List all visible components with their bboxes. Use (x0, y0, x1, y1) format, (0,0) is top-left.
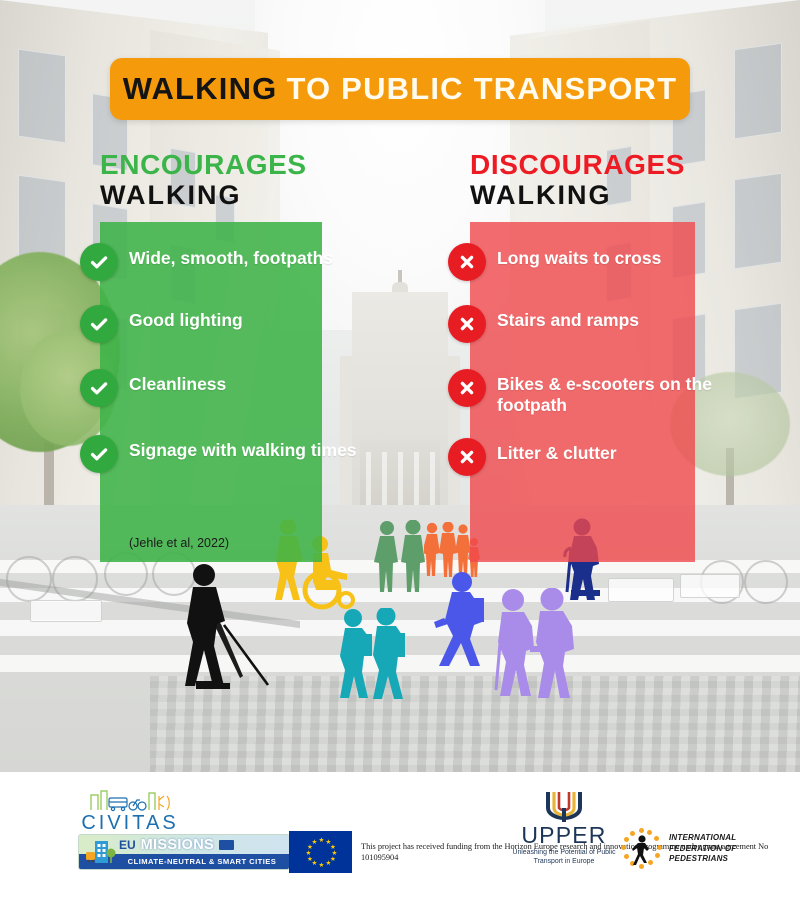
infographic-poster: WALKING TO PUBLIC TRANSPORT ENCOURAGES W… (0, 0, 800, 900)
encourages-accent-label: ENCOURAGES (100, 150, 307, 180)
basilica-column (430, 452, 435, 510)
ifp-walking-person-icon (620, 828, 662, 870)
list-item-label: Good lighting (129, 305, 243, 331)
check-icon (80, 369, 118, 407)
title-part-black: WALKING (123, 71, 278, 107)
citation-label: (Jehle et al, 2022) (129, 536, 229, 550)
check-icon (80, 305, 118, 343)
list-item-label: Stairs and ramps (497, 305, 639, 331)
bicycle-wheel (744, 560, 788, 604)
check-icon (80, 435, 118, 473)
list-item: Wide, smooth, footpaths (80, 243, 380, 281)
silhouette-person-with-backpack (424, 572, 498, 668)
bicycle-wheel (52, 556, 98, 602)
list-item-label: Long waits to cross (497, 243, 661, 269)
eu-missions-label: MISSIONS (141, 837, 214, 853)
basilica-column (382, 452, 387, 510)
cross-icon (448, 305, 486, 343)
civitas-wordmark: CIVITAS (72, 812, 188, 834)
window (734, 43, 782, 140)
upper-tagline: Unleashing the Potential of Public Trans… (505, 849, 623, 866)
list-item-label: Wide, smooth, footpaths (129, 243, 333, 269)
title-part-white: TO PUBLIC TRANSPORT (286, 71, 677, 107)
discourages-accent-label: DISCOURAGES (470, 150, 685, 180)
title-banner: WALKING TO PUBLIC TRANSPORT (110, 58, 690, 120)
list-item-label: Bikes & e-scooters on the footpath (497, 369, 748, 416)
list-item: Litter & clutter (448, 438, 748, 476)
silhouette-two-school-children (334, 608, 408, 700)
cross-icon (448, 369, 486, 407)
street-bench (680, 574, 740, 598)
civitas-logo: CIVITAS Sustainable and smart mobility f… (72, 786, 188, 840)
check-icon (80, 243, 118, 281)
ifp-name: INTERNATIONAL FEDERATION OF PEDESTRIANS (669, 833, 736, 865)
eu-missions-badge: EU MISSIONS CLIMATE-NEUTRAL & SMART CITI… (78, 834, 290, 870)
eu-missions-city-icon (84, 838, 116, 866)
list-item: Bikes & e-scooters on the footpath (448, 369, 748, 416)
list-item: Good lighting (80, 305, 380, 343)
eu-missions-eu-label: EU (119, 838, 136, 852)
ifp-line-2: FEDERATION OF (669, 844, 736, 855)
ifp-logo: INTERNATIONAL FEDERATION OF PEDESTRIANS (620, 828, 736, 870)
upper-mark-icon (538, 790, 590, 824)
ifp-line-3: PEDESTRIANS (669, 854, 736, 865)
street-bench (30, 600, 102, 622)
window (18, 49, 66, 144)
silhouette-older-couple-holding-hands (490, 588, 578, 698)
discourages-list: Long waits to cross Stairs and ramps Bik… (448, 243, 748, 500)
upper-wordmark: UPPER (505, 824, 623, 847)
silhouette-person-with-white-cane (176, 563, 272, 693)
discourages-main-label: WALKING (470, 180, 685, 210)
list-item-label: Signage with walking times (129, 435, 357, 461)
basilica-column (414, 452, 419, 510)
list-item: Cleanliness (80, 369, 380, 407)
street-bench (608, 578, 674, 602)
list-item: Signage with walking times (80, 435, 380, 473)
eu-flag-icon (219, 840, 234, 850)
encourages-heading: ENCOURAGES WALKING (100, 150, 307, 210)
encourages-list: Wide, smooth, footpaths Good lighting Cl… (80, 243, 380, 497)
ifp-line-1: INTERNATIONAL (669, 833, 736, 844)
basilica-column (398, 452, 403, 510)
eu-flag-icon: ★ ★ ★ ★ ★ ★ ★ ★ ★ ★ ★ ★ (289, 831, 352, 873)
discourages-heading: DISCOURAGES WALKING (470, 150, 685, 210)
bicycle-wheel (6, 556, 52, 602)
footer-logo-bar: CIVITAS Sustainable and smart mobility f… (0, 772, 800, 900)
list-item: Stairs and ramps (448, 305, 748, 343)
list-item-label: Litter & clutter (497, 438, 617, 464)
cross-icon (448, 243, 486, 281)
civitas-city-icon (72, 786, 188, 812)
list-item-label: Cleanliness (129, 369, 226, 395)
list-item: Long waits to cross (448, 243, 748, 281)
silhouette-couple-walking (370, 520, 432, 592)
cross-icon (448, 438, 486, 476)
upper-logo: UPPER Unleashing the Potential of Public… (505, 790, 623, 866)
encourages-main-label: WALKING (100, 180, 307, 210)
